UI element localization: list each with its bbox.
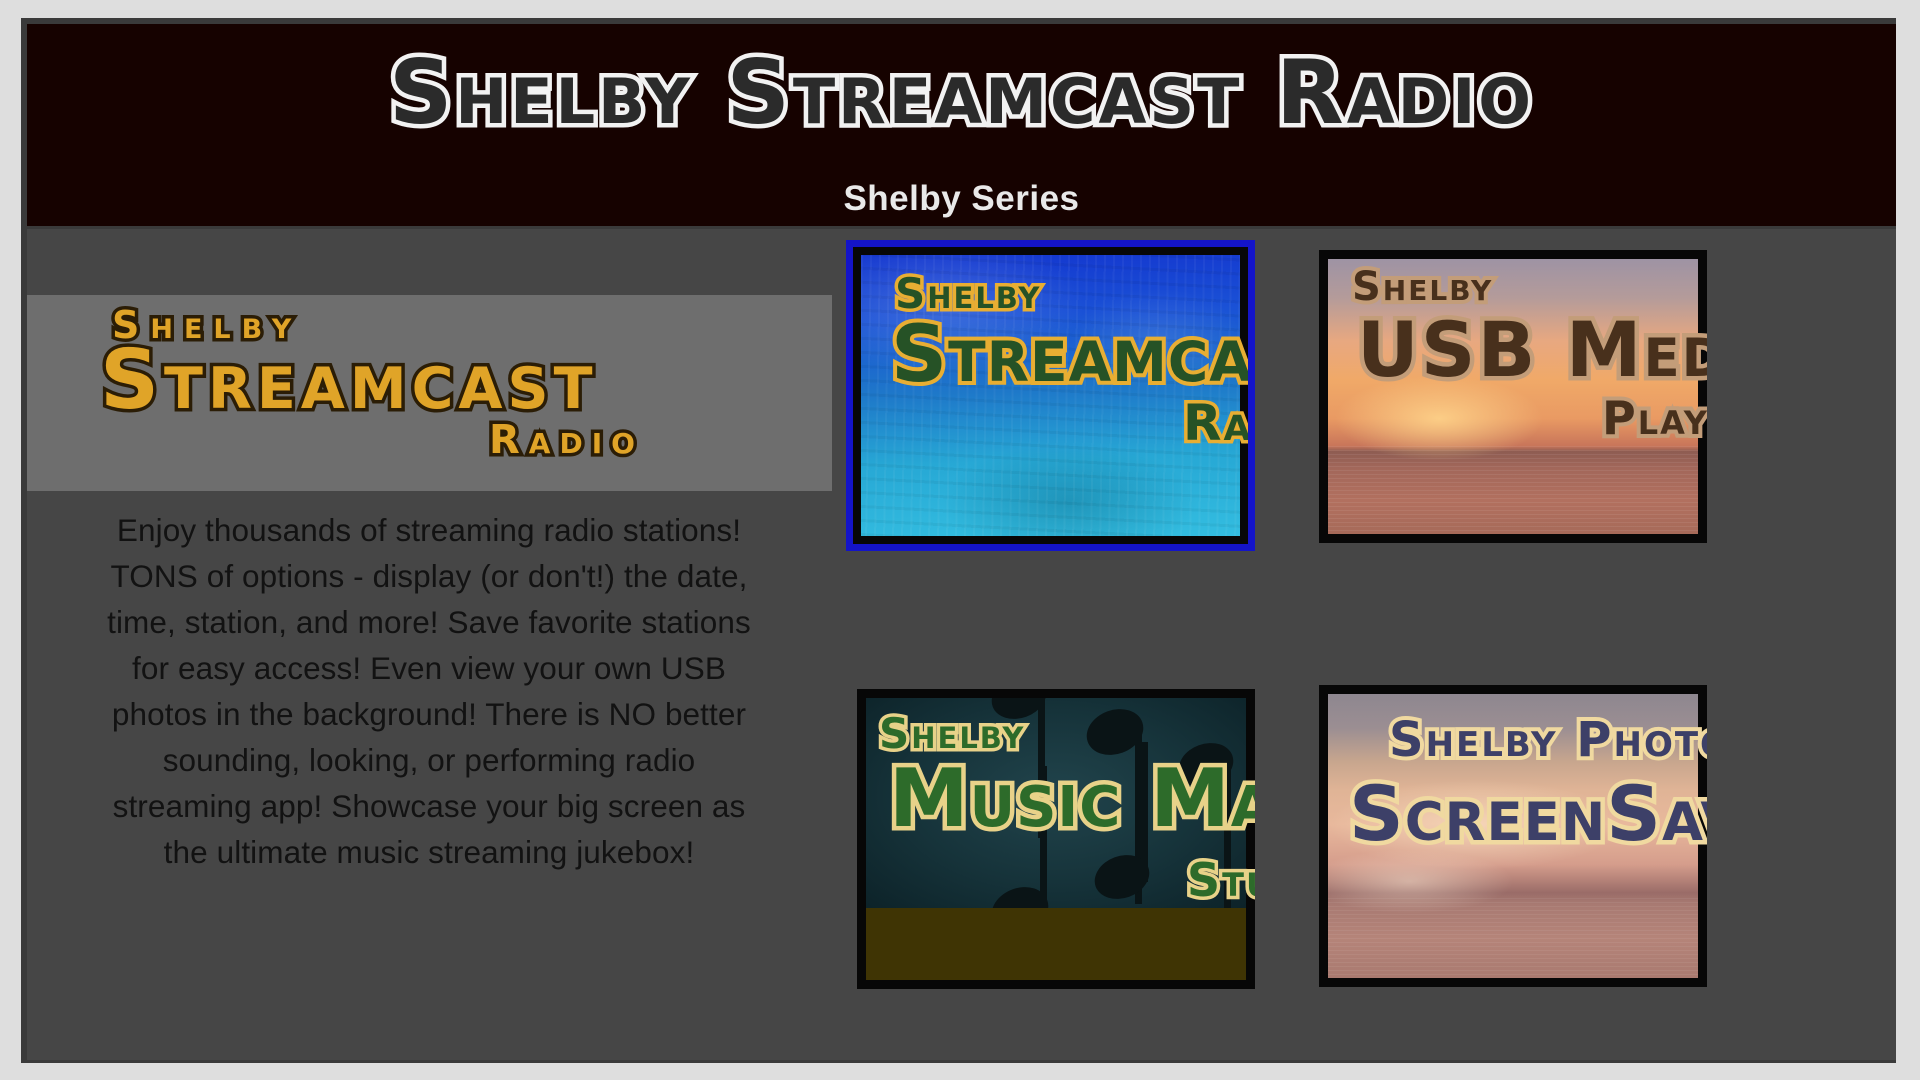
tile-label-group-photo: Shelby Photo ScreenSaver [1319, 685, 1707, 987]
tile-subtitle: Studio [1187, 853, 1255, 907]
tile-title: Streamcast [891, 310, 1255, 400]
tile-eyebrow: Shelby [1352, 264, 1493, 310]
tile-subtitle: Radio [1183, 394, 1255, 452]
brand-logo-line-radio: Radio [489, 417, 644, 463]
app-detail-panel: Shelby Streamcast Radio Enjoy thousands … [27, 229, 832, 1060]
app-description-text: Enjoy thousands of streaming radio stati… [89, 507, 769, 875]
tile-eyebrow: Shelby Photo [1389, 712, 1707, 768]
app-tile-photo-screensaver[interactable]: Shelby Photo ScreenSaver [1319, 685, 1707, 987]
tile-label-group-music: Shelby Music Maker Studio [857, 689, 1255, 989]
tile-title: USB Media [1357, 305, 1707, 394]
tile-label-group-usb: Shelby USB Media Player [1319, 250, 1707, 543]
app-tile-music-maker-studio[interactable]: Shelby Music Maker Studio [857, 689, 1255, 989]
tile-subtitle: Player [1602, 391, 1707, 445]
tile-eyebrow: Shelby [879, 709, 1025, 758]
app-tile-streamcast-radio[interactable]: Shelby Streamcast Radio [846, 240, 1255, 551]
header-banner: Shelby Streamcast Radio Shelby Series [27, 24, 1896, 226]
page-subtitle: Shelby Series [27, 179, 1896, 219]
brand-logo: Shelby Streamcast Radio [27, 295, 832, 491]
app-tile-grid: Shelby Streamcast Radio Shelby USB Media… [832, 229, 1896, 1060]
content-area: Shelby Streamcast Radio Enjoy thousands … [27, 229, 1896, 1060]
app-window-frame: Shelby Streamcast Radio Shelby Series Sh… [21, 18, 1896, 1063]
brand-logo-line-streamcast: Streamcast [100, 333, 597, 428]
app-tile-usb-media-player[interactable]: Shelby USB Media Player [1319, 250, 1707, 543]
tile-title: ScreenSaver [1349, 769, 1707, 858]
page-title: Shelby Streamcast Radio [27, 44, 1896, 143]
tile-title: Music Maker [889, 752, 1255, 845]
tile-label-group-streamcast: Shelby Streamcast Radio [853, 247, 1248, 544]
